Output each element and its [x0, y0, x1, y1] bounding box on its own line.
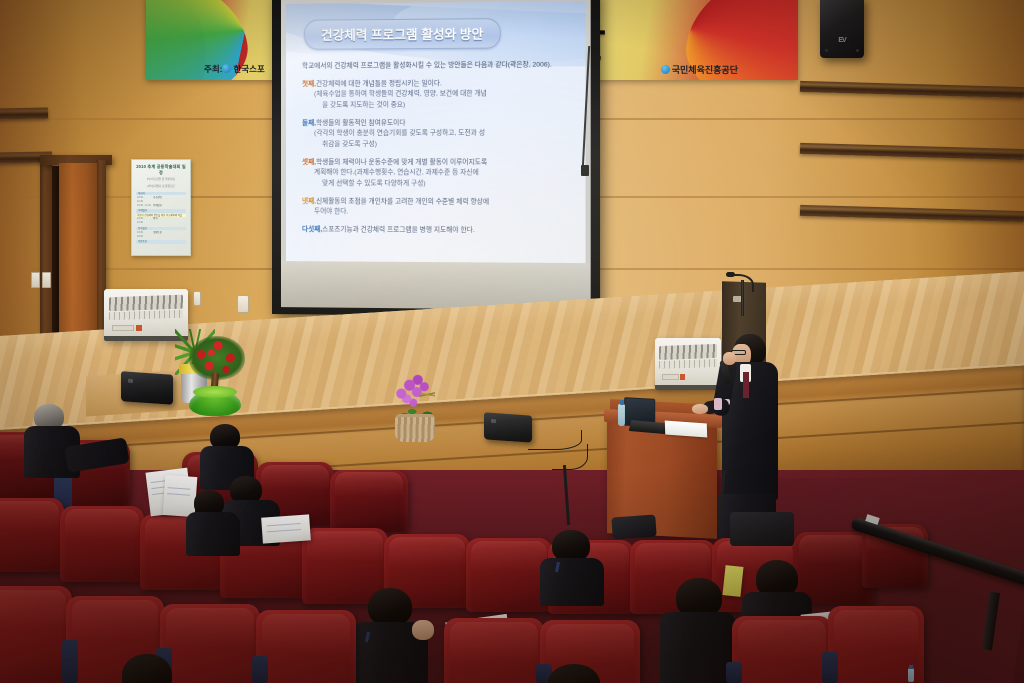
door-leaf[interactable] [59, 163, 97, 349]
program-paper [261, 514, 311, 543]
screen-surface: 건강체력 프로그램 활성와 방안 학교에서의 건강체력 프로그램을 활성화시킬 … [281, 0, 591, 310]
seat[interactable] [330, 470, 408, 532]
audience-member [184, 490, 244, 548]
poster-row: 13:30 - 16:00 종합토론 [136, 231, 186, 238]
slide-point-keyword: 다섯째, [302, 226, 322, 233]
ac-base [655, 385, 721, 390]
audience-member [540, 664, 616, 683]
audience-head [122, 654, 172, 683]
poster-row-time: 13:30 - 16:00 [137, 231, 151, 238]
poster-subtitle-1: 1부/기조강연 및 주제 발표 [136, 178, 186, 182]
poster-row-time: 10:30 - 11:20 [137, 204, 151, 208]
slide-point-keyword: 넷째, [302, 198, 316, 205]
wall-speaker-ev: EV [820, 0, 864, 58]
slide-point: 넷째,신체활동의 초점을 개인차를 고려한 개인의 수준별 체력 향상에 두어야… [296, 197, 577, 220]
sponsor-logo-icon [661, 65, 670, 74]
poster-row-label: 주제발표 [153, 204, 185, 208]
seat-side-panel [62, 640, 78, 683]
slide-point-text: 학생들의 활동적인 참여유도이다 [316, 119, 405, 126]
ac-indicator [680, 374, 685, 380]
ac-indicator [136, 325, 142, 331]
slide-point: 둘째,학생들의 활동적인 참여유도이다 (각각의 학생이 충분히 연습기회를 갖… [296, 118, 577, 151]
poster-row-time: 10:00 - 10:30 [137, 196, 151, 203]
seat[interactable] [444, 618, 544, 683]
projected-slide: 건강체력 프로그램 활성와 방안 학교에서의 건강체력 프로그램을 활성화시킬 … [286, 1, 586, 265]
poster-row-label: 기조강연 [153, 196, 185, 203]
slide-point-sub2: 맞게 선택할 수 있도록 다양하게 구성) [302, 179, 577, 190]
banner-sponsor: 국민체육진흥공단 [661, 63, 738, 76]
water-bottle-floor [908, 668, 914, 682]
slide-point-sub: (체육수업을 통하여 학생들의 건강체력, 영양, 보건에 대한 개념 [302, 89, 577, 101]
projection-screen: 건강체력 프로그램 활성와 방안 학교에서의 건강체력 프로그램을 활성화시킬 … [272, 0, 600, 317]
screen-plug [581, 165, 589, 176]
podium-papers [665, 421, 707, 438]
orchid-basket-pot [395, 414, 435, 442]
orchid-plant [395, 346, 441, 442]
seat[interactable] [732, 616, 832, 683]
auditorium-scene: 2010 추계 공동학술대회 일정 1부/기조강연 및 주제 발표 2부/분과발… [0, 0, 1024, 683]
speaker-screw-icon [856, 49, 859, 52]
ac-grille [109, 295, 183, 311]
slide-point-text: 스포츠기능과 건강체력 프로그램을 병행 지도해야 한다. [322, 226, 475, 234]
host-logo-icon [222, 64, 231, 73]
audience-member [540, 530, 606, 600]
slide-point: 첫째,건강체력에 대한 개념틀을 정립시키는 일이다. (체육수업을 통하여 학… [296, 78, 577, 111]
speaker-cable [552, 444, 588, 470]
poster-title: 2010 추계 공동학술대회 일정 [136, 164, 186, 176]
seat[interactable] [256, 610, 356, 683]
door-frame-left [40, 158, 52, 348]
ac-grille [659, 359, 717, 369]
presenter-shirt-cuff [714, 398, 722, 410]
poster-subtitle-2: 2부/분과발표 및 종합토론 [136, 185, 186, 189]
schedule-poster: 2010 추계 공동학술대회 일정 1부/기조강연 및 주제 발표 2부/분과발… [131, 159, 191, 256]
air-conditioner-right [655, 338, 721, 390]
stage-monitor-speaker [121, 371, 173, 405]
bonsai-green-pot [189, 390, 241, 416]
slide-point-keyword: 둘째, [302, 120, 316, 127]
coat-on-seat [611, 514, 656, 539]
seat-side-panel [726, 662, 742, 683]
seat-side-panel [252, 656, 268, 683]
poster-row-time: 12:30 - 13:30 [137, 217, 151, 224]
audience-member [112, 654, 192, 683]
ac-grille [109, 310, 183, 321]
seat-side-panel [822, 652, 838, 683]
banner-host-label: 주최: [204, 64, 222, 74]
presenter-hand-on-podium [692, 404, 708, 414]
slide-title: 건강체력 프로그램 활성와 방안 [304, 18, 501, 50]
audience-head [368, 588, 412, 626]
presenter-tie [743, 372, 749, 398]
slide-point-text: 신체활동의 초점을 개인차를 고려한 개인의 수준별 체력 향상에 [316, 198, 489, 206]
slide-point-sub2: 을 갖도록 지도하는 것이 중요) [302, 100, 577, 112]
light-switch[interactable] [31, 272, 40, 288]
slide-point-text: 건강체력에 대한 개념틀을 정립시키는 일이다. [316, 80, 442, 88]
poster-row: 10:30 - 11:20 주제발표 [136, 204, 186, 208]
slide-point: 셋째,학생들의 체력이나 운동수준에 맞게 개별 활동이 이루어지도록 계획해야… [296, 158, 577, 191]
ac-label [662, 374, 679, 380]
ac-label [112, 325, 134, 331]
poster-section-bar: 종합토론 [136, 240, 186, 244]
banner-host: 주최:한국스포 [204, 63, 265, 75]
slide-lead-text: 학교에서의 건강체력 프로그램을 활성화시킬 수 있는 방안들은 다음과 같다(… [296, 60, 577, 72]
poster-row-label: 종합토론 [153, 231, 185, 238]
slide-point-text: 학생들의 체력이나 운동수준에 맞게 개별 활동이 이루어지도록 [316, 159, 487, 166]
audience-torso [540, 558, 604, 606]
presenter-hand-holding-mic [723, 352, 736, 365]
mic-head [726, 272, 735, 277]
audience-head [548, 664, 600, 683]
slide-point-sub: 두어야 한다. [302, 207, 577, 219]
poster-section-bar: 분과발표 [136, 227, 186, 231]
speaker-screw-icon [825, 49, 828, 52]
water-bottle [618, 404, 625, 426]
poster-row: 10:00 - 10:30 기조강연 [136, 196, 186, 203]
slide-point-keyword: 셋째, [302, 159, 316, 166]
wall-trim [0, 108, 48, 120]
ev-brand-logo: EV [838, 37, 845, 44]
wall-outlet [237, 295, 249, 313]
banner-host-name: 한국스포 [233, 64, 264, 74]
slide-point-keyword: 첫째, [302, 80, 316, 87]
audience-hand [412, 620, 434, 640]
poster-row-label: 중식 [153, 217, 185, 224]
slide-point-sub: 계획해야 한다.(과제수행횟수, 연습시간, 과제수준 등 자신에 [302, 168, 577, 179]
light-switch[interactable] [42, 272, 51, 288]
bonsai-plant [189, 340, 247, 416]
slide-point-sub2: 취감을 갖도록 구성) [302, 140, 577, 151]
backpack-on-floor [730, 512, 794, 546]
poster-section-bar: 주제발표 [136, 209, 186, 213]
banner-sponsor-name: 국민체육진흥공단 [672, 65, 738, 75]
slide-point-sub: (각각의 학생이 충분히 연습기회를 갖도록 구성하고, 도전과 성 [302, 129, 577, 140]
poster-section-bar: 개회식 [136, 192, 186, 196]
audience-torso [186, 512, 240, 556]
seat[interactable] [60, 506, 144, 582]
stage-monitor-speaker [484, 412, 532, 442]
wall-outlet [193, 291, 201, 306]
seat[interactable] [0, 498, 64, 572]
ac-grille [659, 344, 717, 360]
slide-point: 다섯째,스포츠기능과 건강체력 프로그램을 병행 지도해야 한다. [296, 225, 577, 237]
audience-member [198, 424, 258, 482]
slide-body: 학교에서의 건강체력 프로그램을 활성화시킬 수 있는 방안들은 다음과 같다(… [296, 60, 577, 237]
poster-row: 12:30 - 13:30 중식 [136, 217, 186, 224]
audience-torso [660, 612, 736, 683]
